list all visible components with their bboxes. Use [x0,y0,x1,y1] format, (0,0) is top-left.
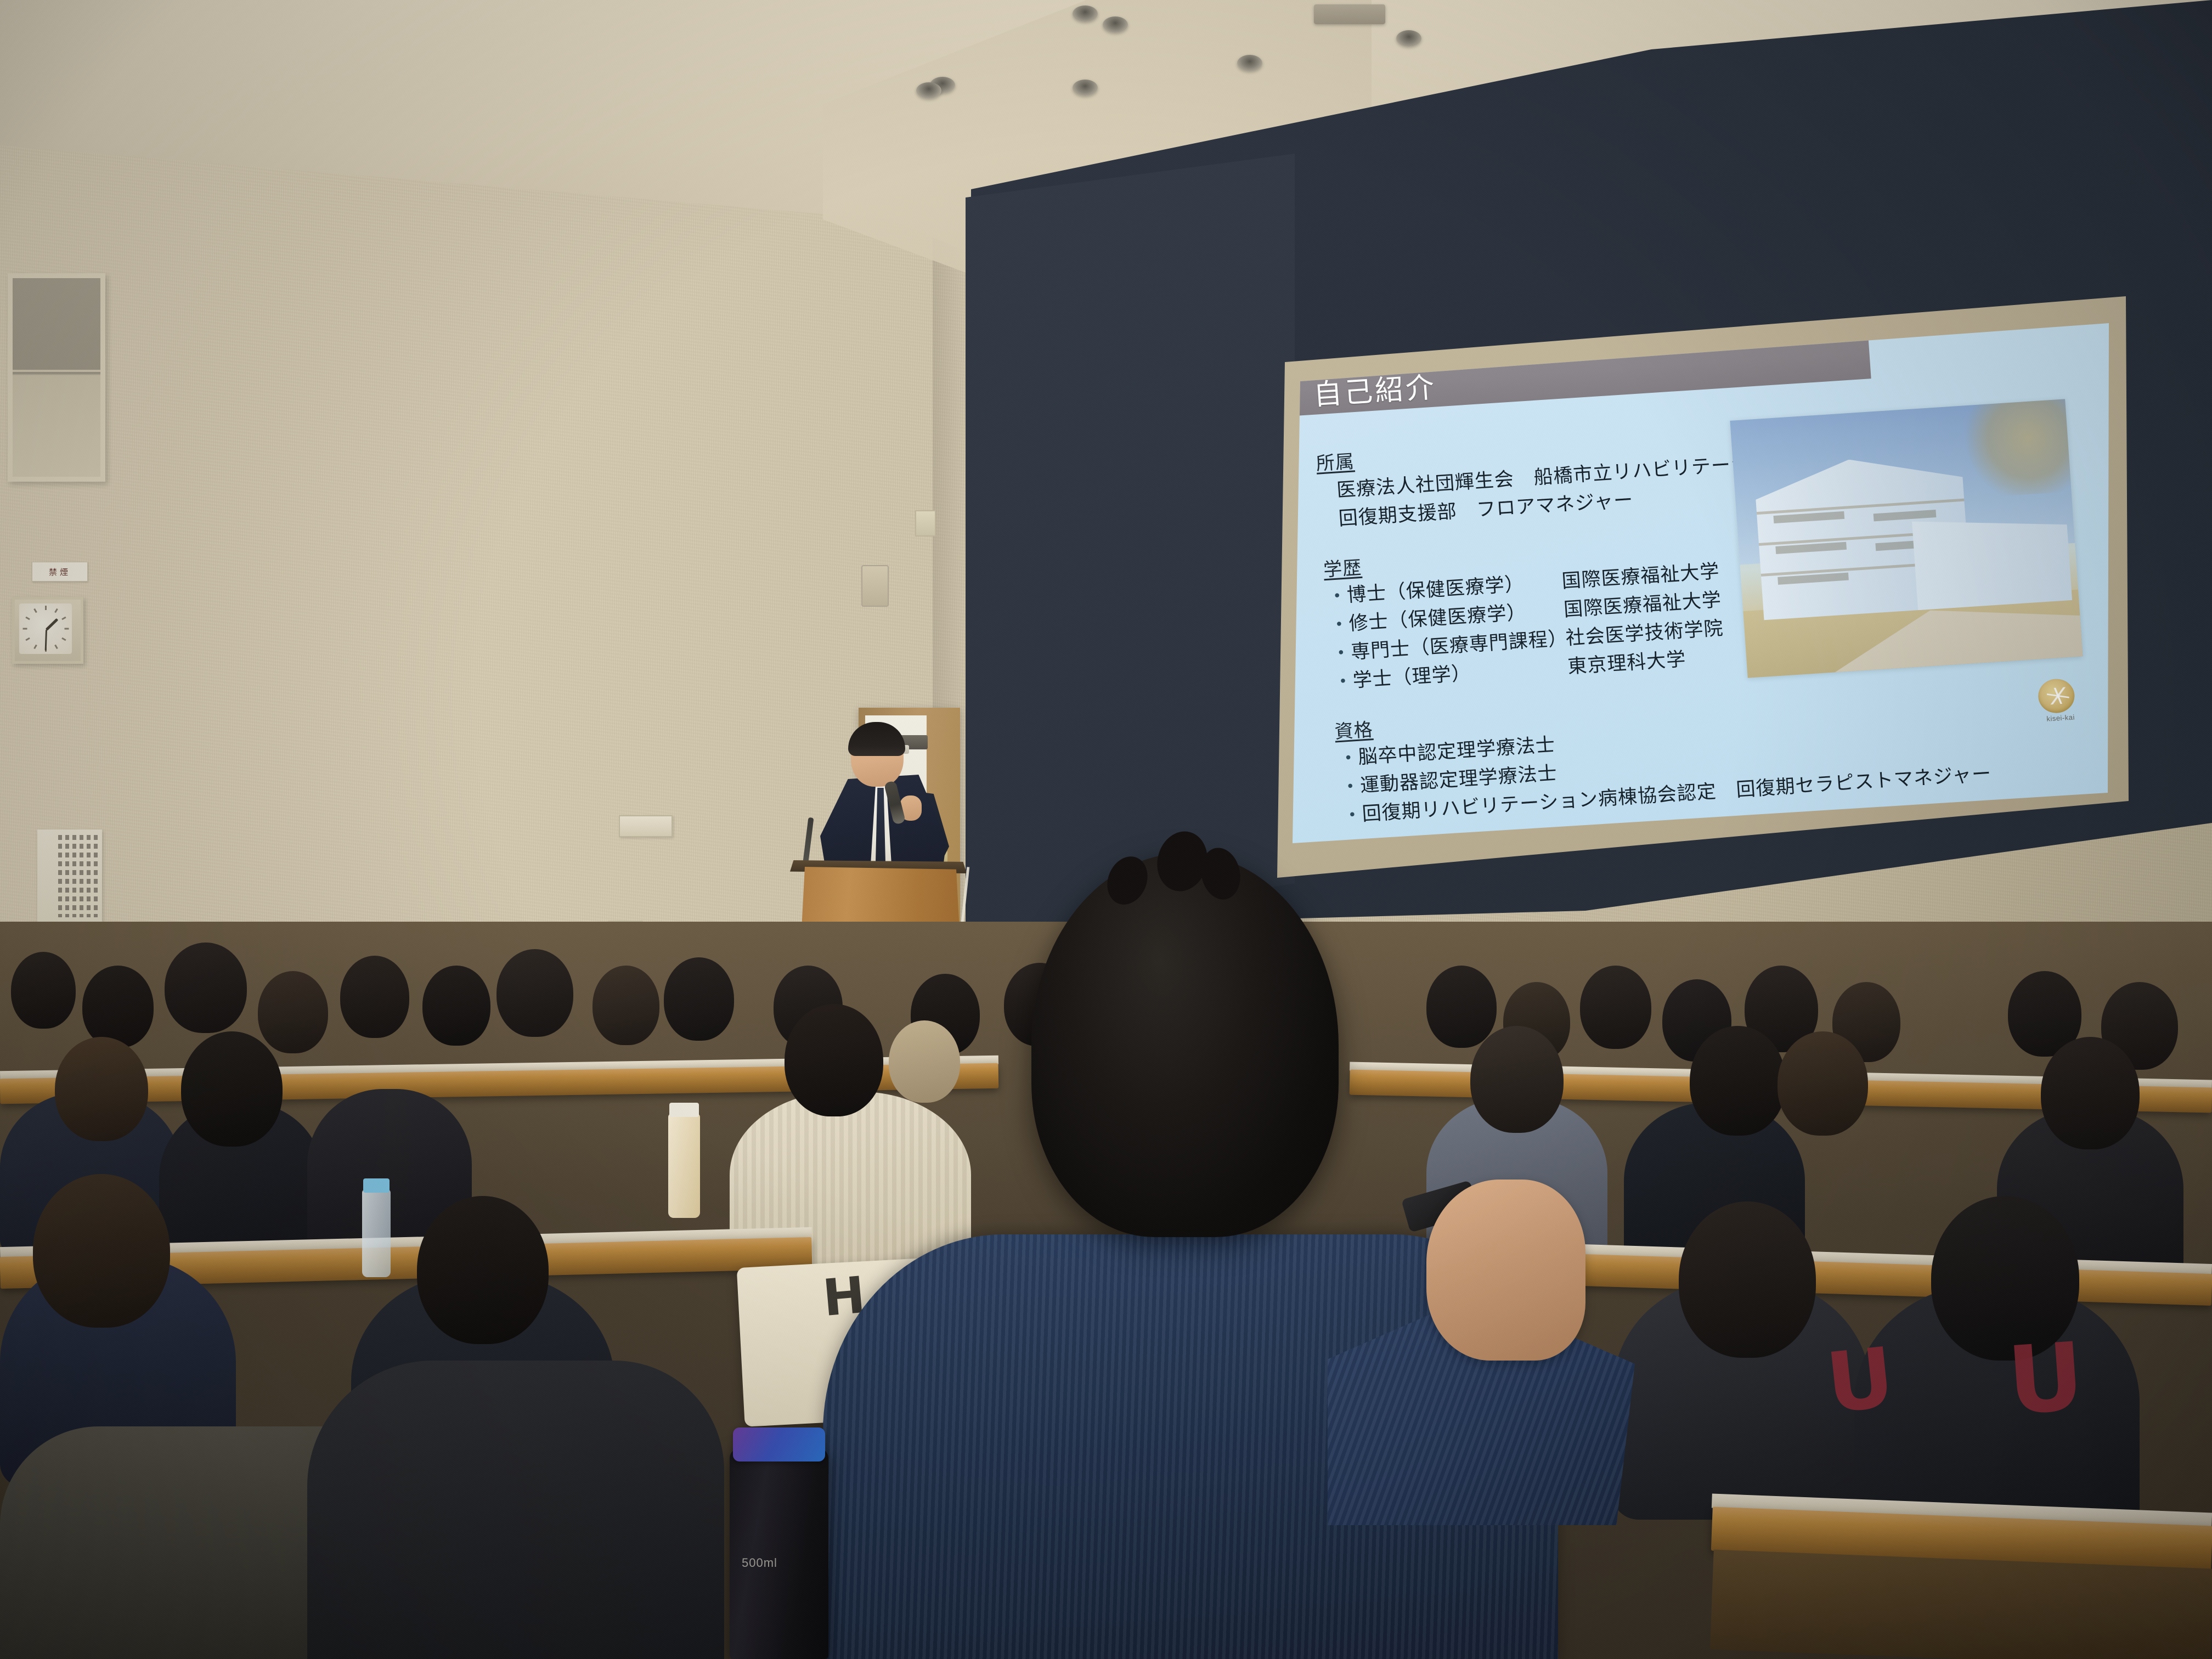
audience-head [1426,966,1497,1048]
ceiling-downlight [1073,80,1098,96]
clock-hour-hand [46,618,59,631]
slide-logo-text: kisei-kai [2038,712,2084,723]
wall-vent-panel [8,273,105,482]
foreground-bottle [730,1448,828,1659]
audience-head [422,966,490,1046]
audience-head [1580,966,1651,1049]
audience-head [664,957,734,1041]
audience-head [55,1037,148,1141]
audience-head [165,943,247,1033]
draped-coat [307,1361,724,1659]
no-smoking-sign: 禁煙 [32,562,88,582]
ceiling-downlight [1396,30,1421,47]
audience-head [1778,1031,1868,1136]
audience-head [258,971,328,1053]
foreground-viewer-hand [1426,1180,1585,1361]
no-smoking-sign-text: 禁煙 [49,566,71,578]
audience-head [1470,1026,1564,1133]
hoodie-graphic-letter: U [1822,1330,1898,1432]
wall-speaker [861,565,889,607]
audience-head [592,966,659,1045]
audience-head [1690,1026,1786,1136]
audience-head [785,1004,883,1116]
audience-head [496,949,573,1037]
audience-head [1679,1201,1816,1358]
slide-section-heading-qualifications: 資格 [1334,714,1374,743]
slide-hospital-photo [1730,399,2083,678]
slide-section-heading-affiliation: 所属 [1315,446,1355,475]
ceiling-downlight [916,82,941,99]
foreground-viewer-head [1031,853,1339,1237]
wall-switch-plate [915,510,936,537]
projected-slide: 自己紹介 所属 医療法人社団輝生会 船橋市立リハビリテーション病院 回復期支援部… [1293,321,2110,848]
audience-head [181,1031,283,1147]
foreground-bottle-label: 500ml [742,1556,777,1570]
wall-notice [37,830,102,923]
audience-head [889,1020,960,1103]
navy-wall-panel [966,154,1295,938]
wall-plaque [619,815,673,837]
ceiling-downlight [1073,5,1098,22]
water-bottle [362,1189,391,1277]
ceiling-vent [1314,4,1385,24]
lecture-hall-photo: 自己紹介 所属 医療法人社団輝生会 船橋市立リハビリテーション病院 回復期支援部… [0,0,2212,1659]
wall-clock [12,597,83,664]
clock-minute-hand [45,630,47,651]
audience-head [417,1196,549,1344]
audience-head [340,956,409,1038]
slide-section-heading-education: 学歴 [1322,552,1362,582]
audience-head [2041,1037,2140,1149]
desk-front-panel [1710,1550,2212,1659]
bottle-cap [669,1103,699,1117]
ceiling-downlight [1237,55,1262,71]
audience-head [11,952,76,1029]
juice-bottle [668,1114,700,1218]
ceiling-downlight [1103,16,1128,33]
foreground-bottle-cap [733,1427,825,1462]
audience-head [82,966,154,1048]
audience-head [33,1174,170,1328]
bottle-cap [363,1178,390,1193]
hoodie-graphic-letter: U [2004,1322,2087,1436]
slide-logo: kisei-kai [2037,678,2081,722]
